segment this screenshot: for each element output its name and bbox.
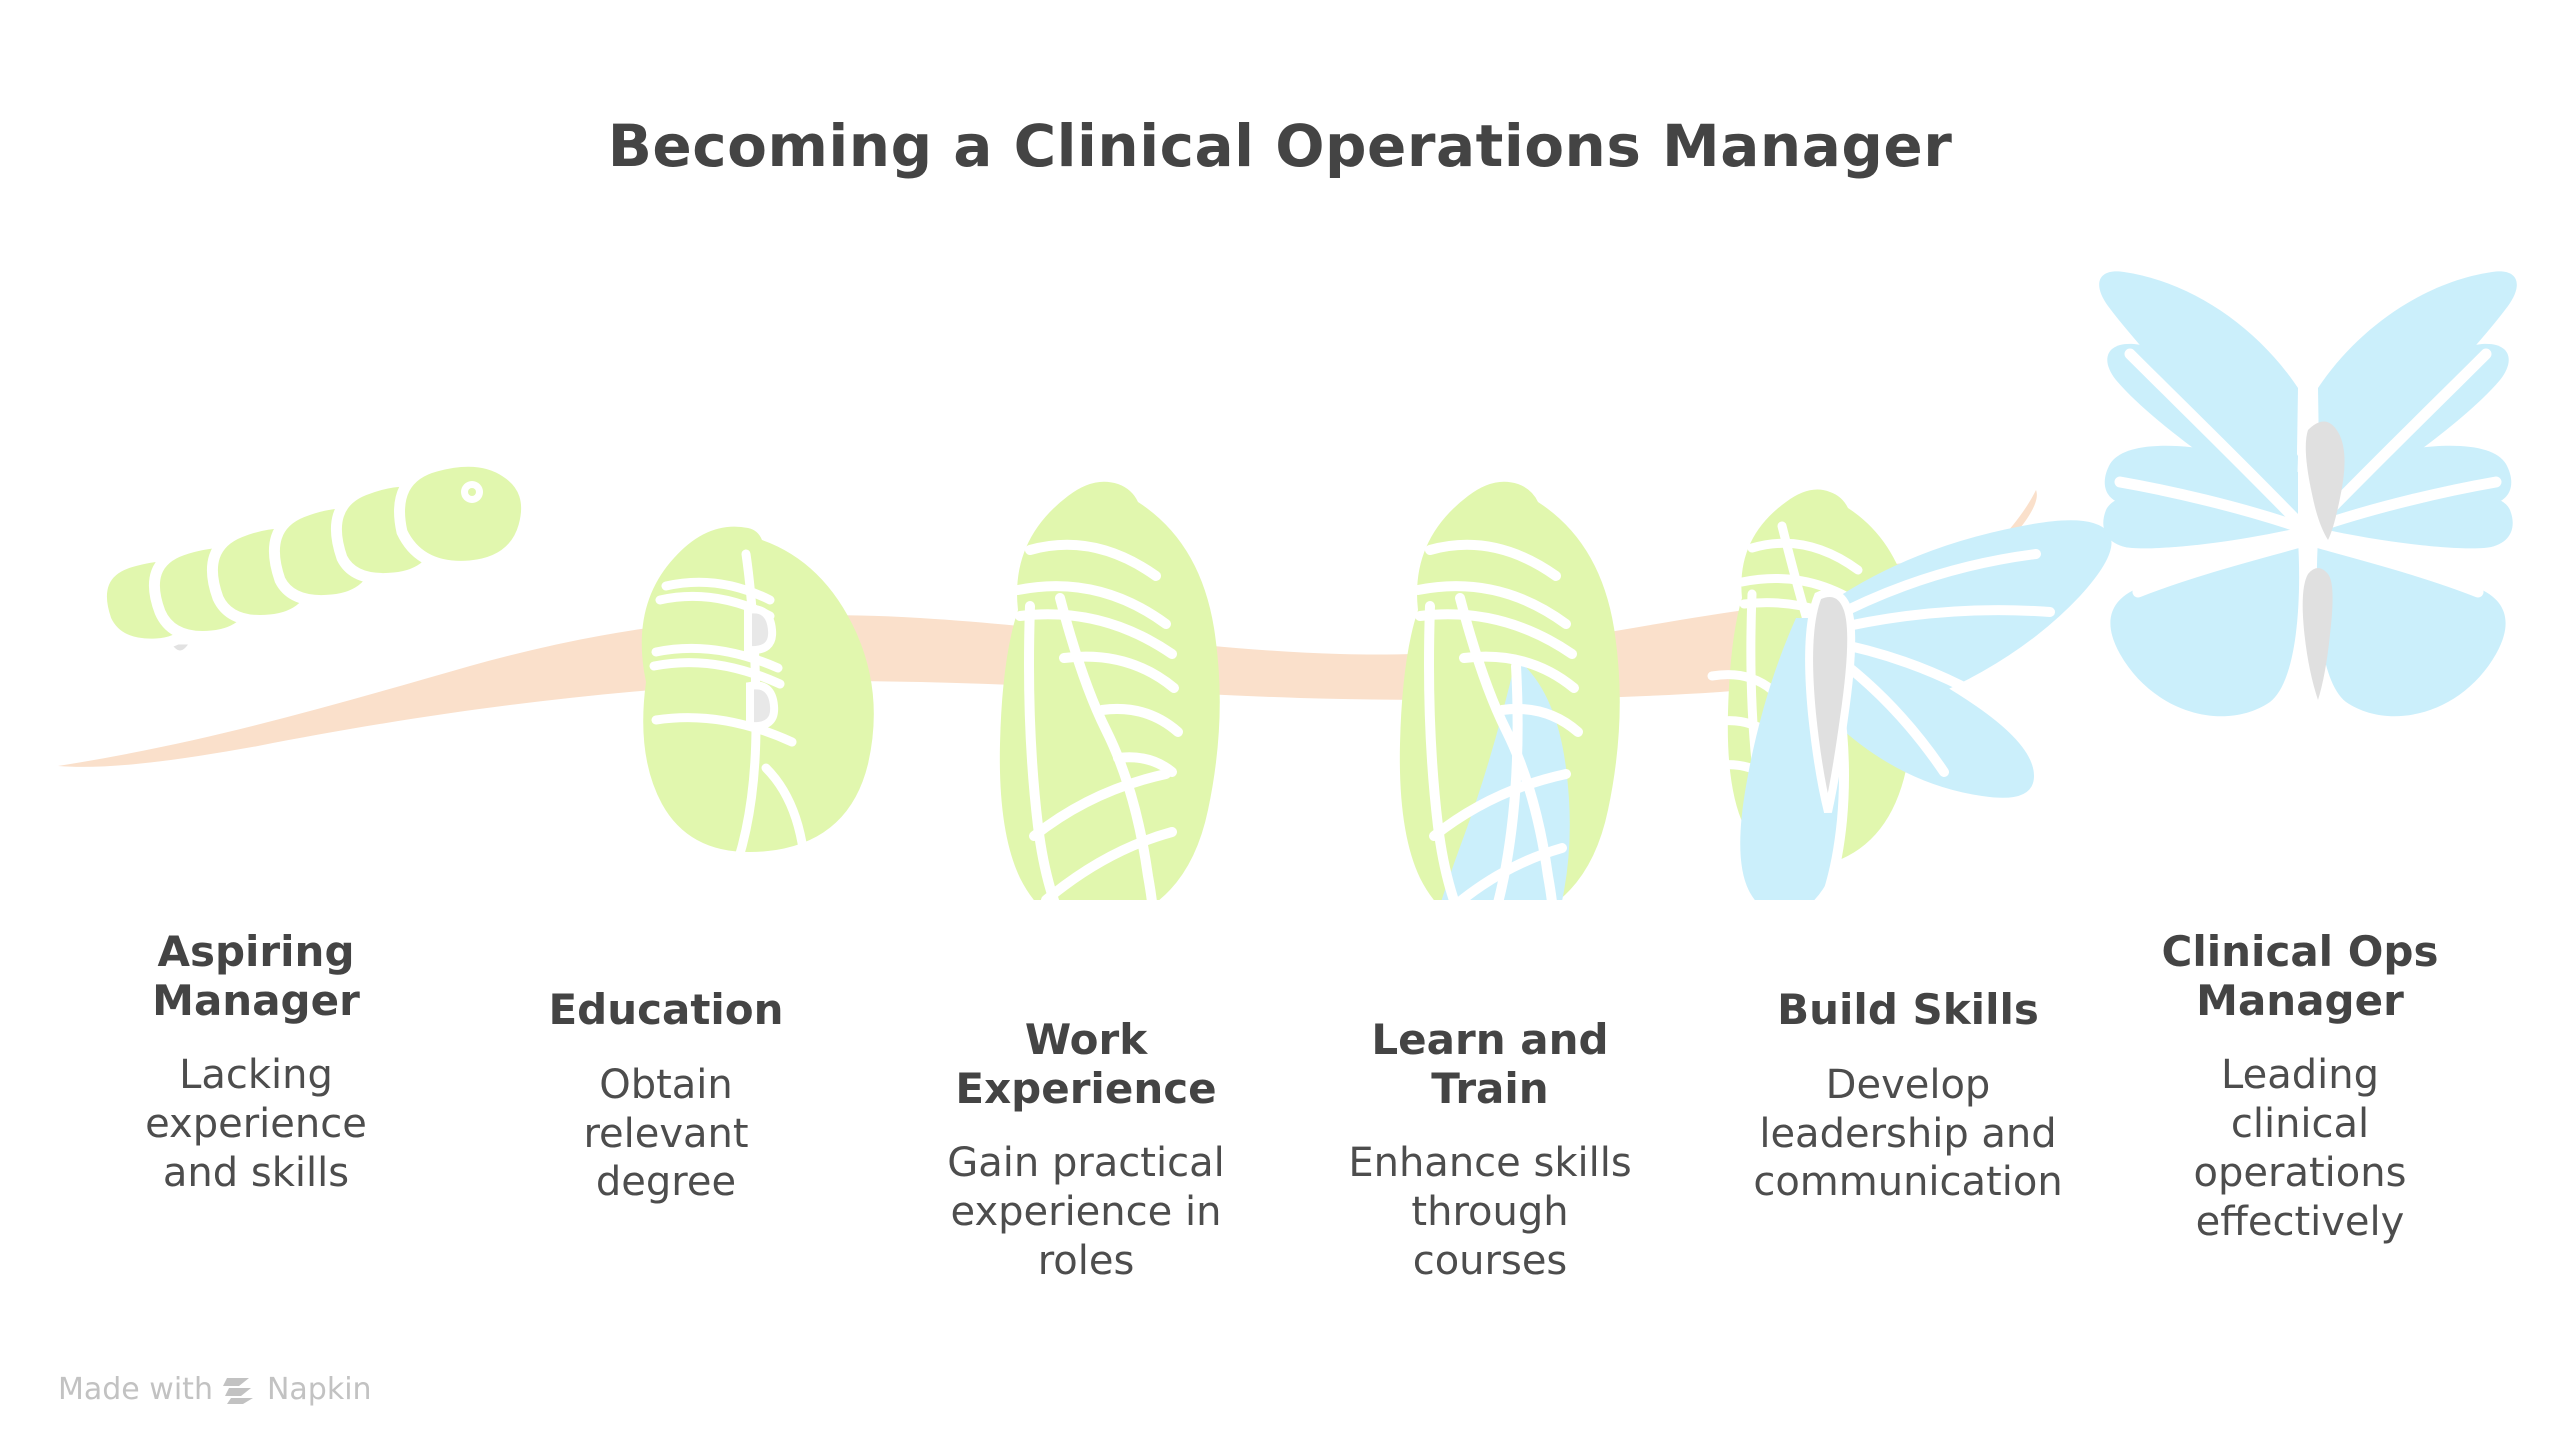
metamorphosis-svg: [0, 0, 2560, 900]
stage-description: Obtain relevant degree: [496, 1061, 836, 1207]
stage-column-education: Education Obtain relevant degree: [496, 986, 836, 1207]
stage-description: Enhance skills through courses: [1320, 1139, 1660, 1285]
footer-brand-label: Napkin: [267, 1372, 372, 1407]
stage-heading: Education: [496, 986, 836, 1035]
stage-column-build-skills: Build Skills Develop leadership and comm…: [1738, 986, 2078, 1207]
emerging-butterfly-icon: [1712, 490, 2112, 900]
stage-description: Develop leadership and communication: [1738, 1061, 2078, 1207]
stage-column-learn-and-train: Learn and Train Enhance skills through c…: [1320, 1016, 1660, 1286]
stage-heading: Clinical Ops Manager: [2130, 928, 2470, 1025]
chrysalis-wing-icon: [1400, 482, 1620, 900]
butterfly-icon: [2099, 271, 2517, 716]
stage-column-clinical-ops-manager: Clinical Ops Manager Leading clinical op…: [2130, 928, 2470, 1247]
stage-heading: Work Experience: [916, 1016, 1256, 1113]
chrysalis-icon: [1000, 482, 1220, 900]
stage-captions: Aspiring Manager Lacking experience and …: [0, 900, 2560, 1360]
stage-description: Lacking experience and skills: [86, 1051, 426, 1197]
stage-heading: Aspiring Manager: [86, 928, 426, 1025]
stage-column-aspiring-manager: Aspiring Manager Lacking experience and …: [86, 928, 426, 1198]
stage-description: Gain practical experience in roles: [916, 1139, 1256, 1285]
stage-heading: Learn and Train: [1320, 1016, 1660, 1113]
made-with-napkin-footer: Made with Napkin: [58, 1372, 372, 1407]
stage-column-work-experience: Work Experience Gain practical experienc…: [916, 1016, 1256, 1286]
stage-description: Leading clinical operations effectively: [2130, 1051, 2470, 1246]
footer-made-with-label: Made with: [58, 1372, 213, 1407]
stage-heading: Build Skills: [1738, 986, 2078, 1035]
cocoon-early-icon: [642, 527, 874, 900]
caterpillar-icon: [101, 461, 526, 655]
metamorphosis-illustration: [0, 0, 2560, 900]
napkin-logo-icon: [223, 1375, 257, 1405]
